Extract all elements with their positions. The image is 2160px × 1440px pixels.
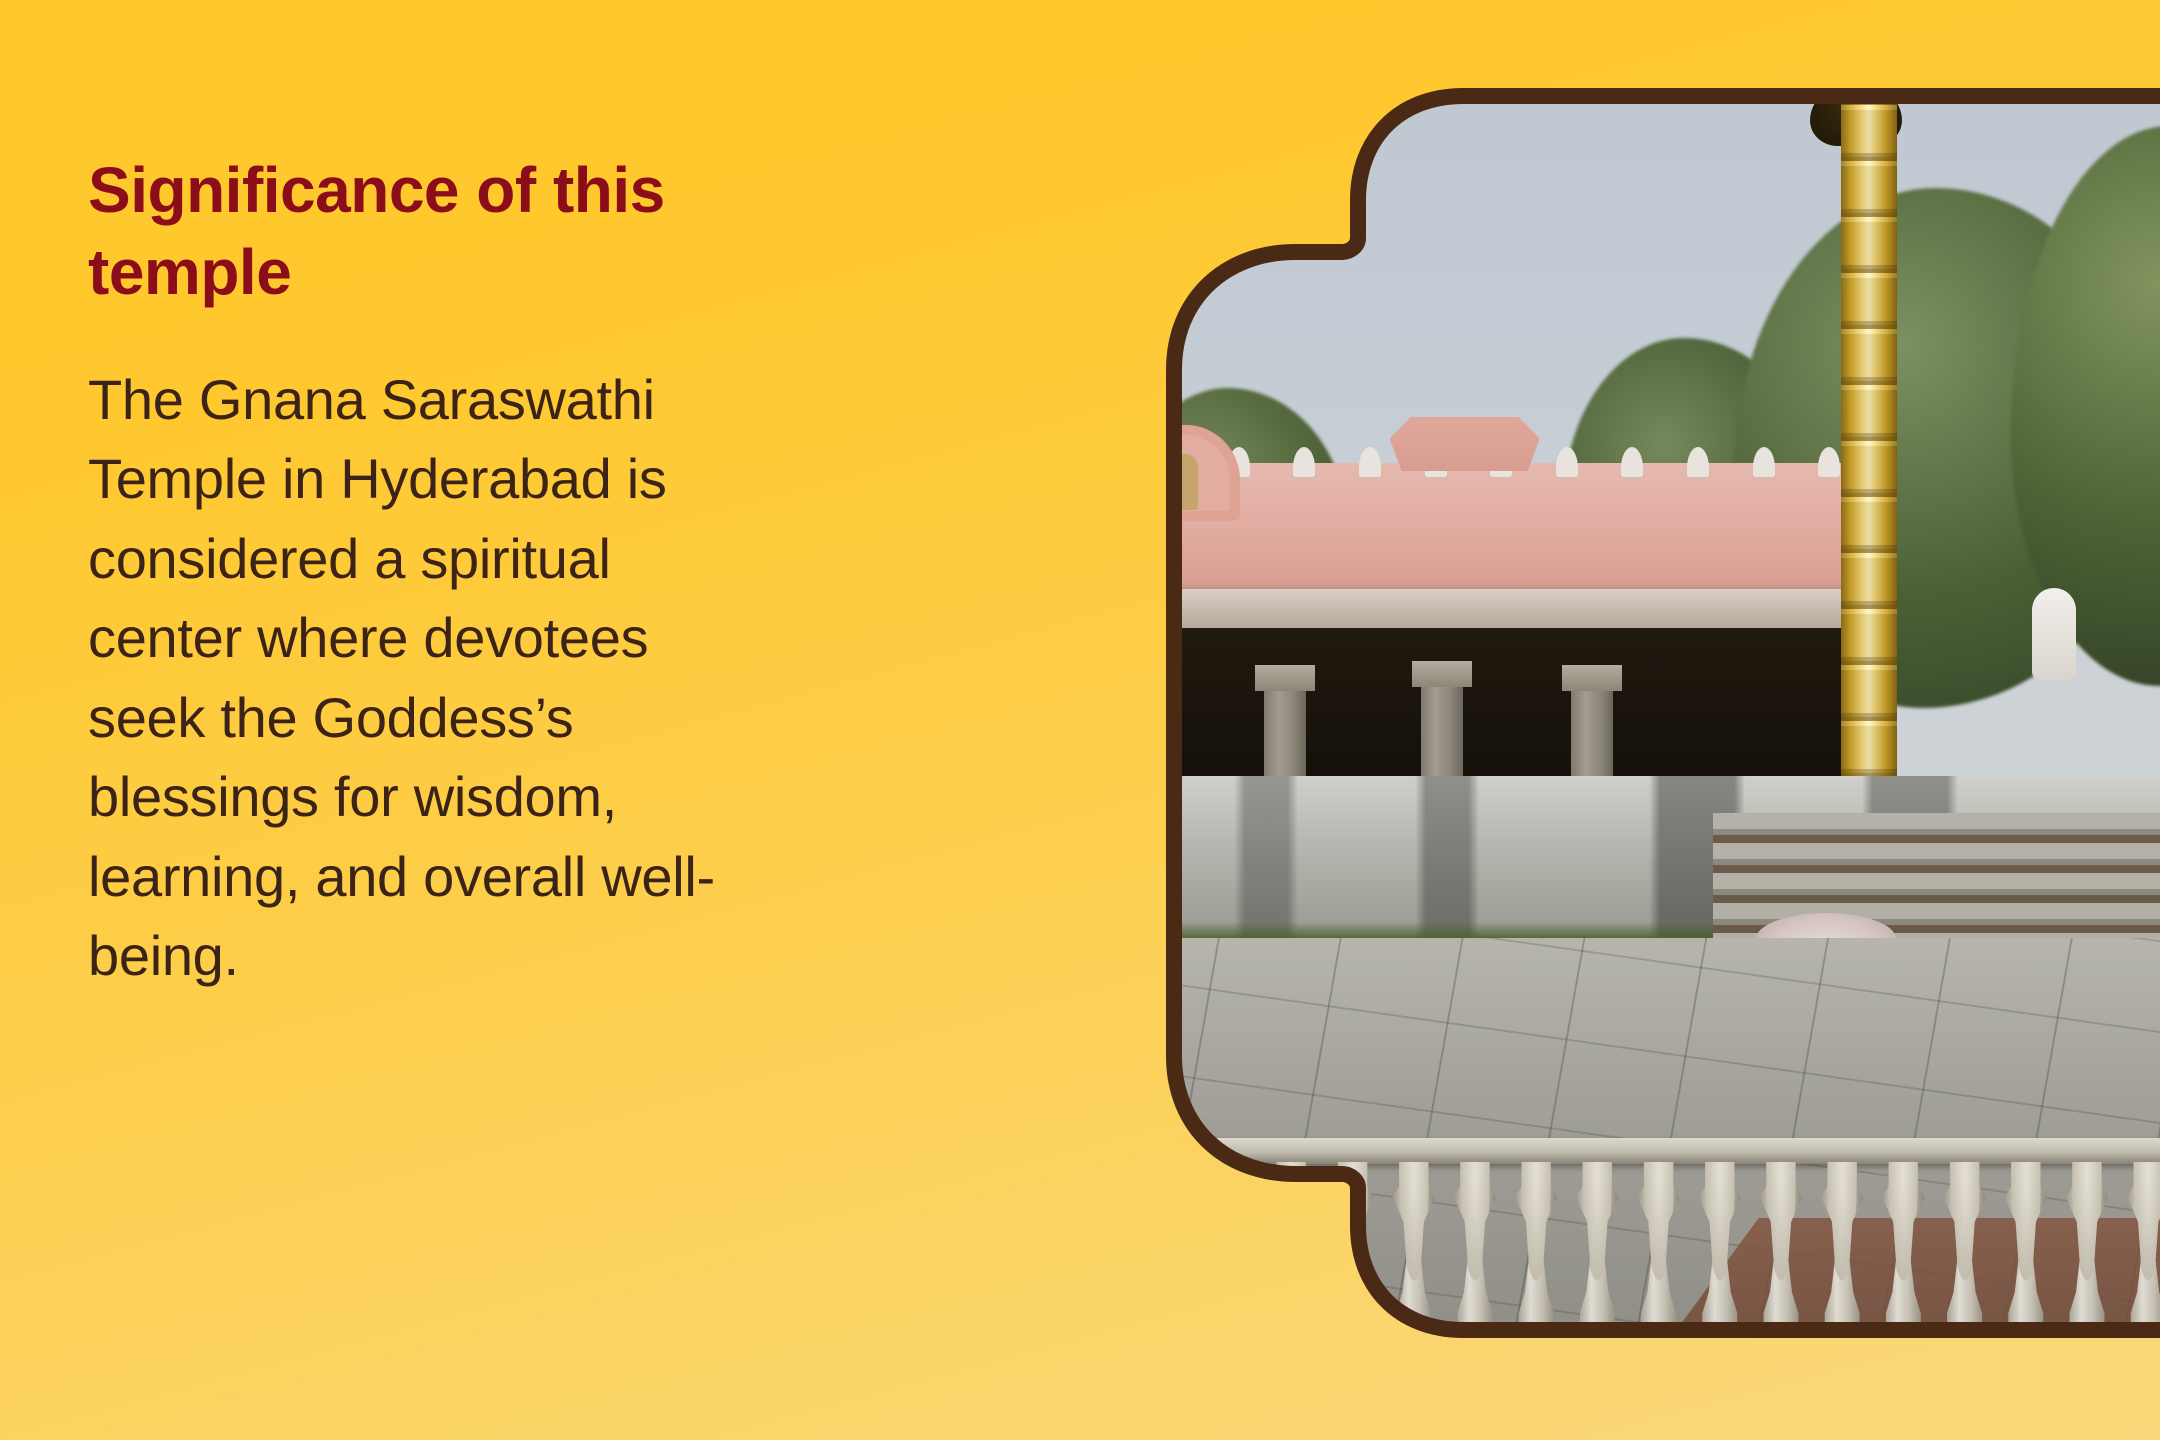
parapet-wall — [1096, 463, 1862, 600]
balustrade-rail — [1096, 1138, 2160, 1164]
temple-photo-frame — [1096, 88, 2160, 1338]
mini-gopura — [1390, 417, 1540, 471]
page-title: Significance of this temple — [88, 150, 728, 314]
body-paragraph: The Gnana Saraswathi Temple in Hyderabad… — [88, 360, 778, 996]
white-deity-statue — [2032, 588, 2076, 680]
text-column: Significance of this temple The Gnana Sa… — [88, 150, 788, 996]
roof-eave — [1096, 589, 1862, 628]
slide-canvas: Significance of this temple The Gnana Sa… — [0, 0, 2160, 1440]
temple-mandapa — [1096, 463, 1862, 813]
stone-pillar — [1122, 668, 1164, 813]
balusters — [1096, 1162, 2160, 1338]
cusped-arch-frame-svg — [1096, 88, 2160, 1338]
temple-photograph — [1096, 88, 2160, 1338]
